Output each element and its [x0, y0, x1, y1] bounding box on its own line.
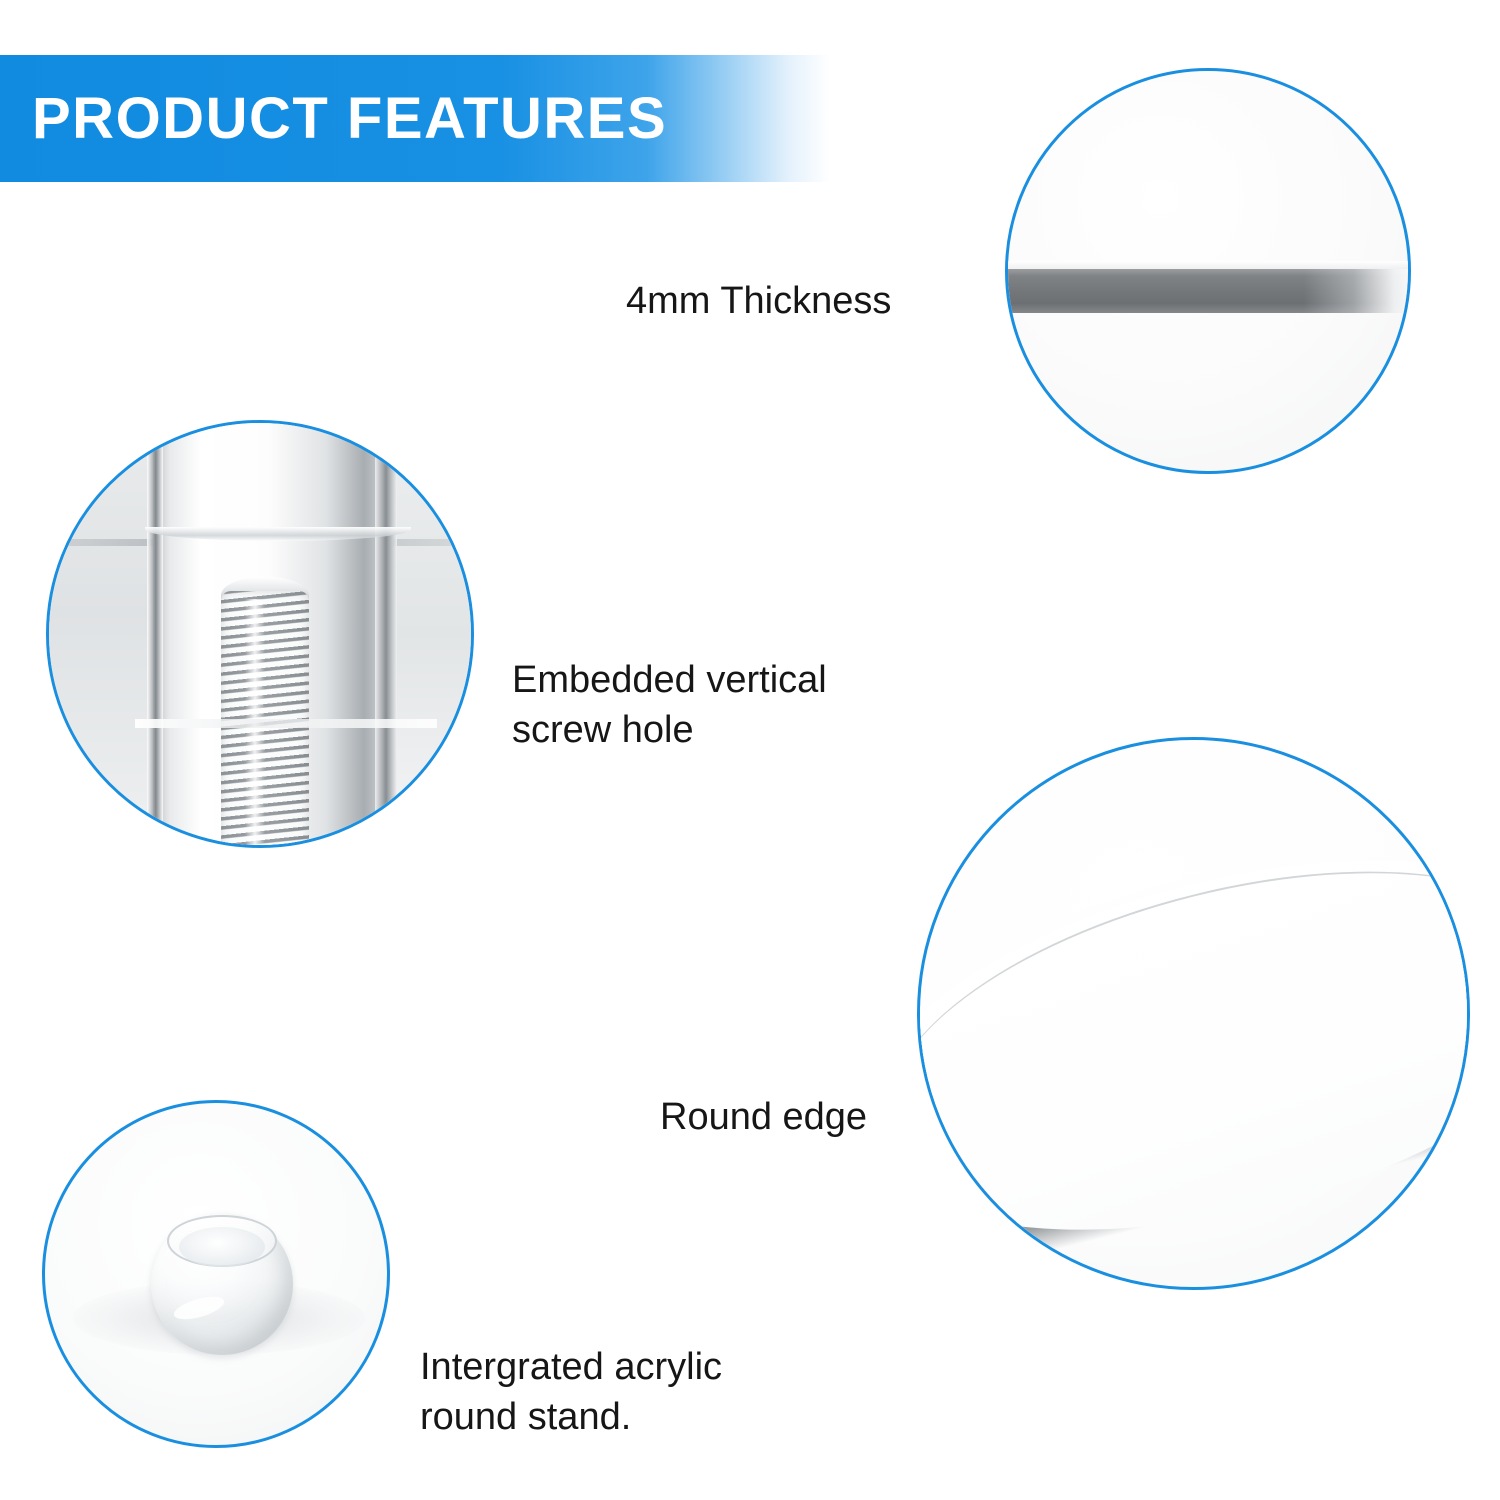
cylinder-lower-band — [135, 719, 437, 728]
feature-image-round-edge — [917, 737, 1470, 1290]
page-title: PRODUCT FEATURES — [32, 90, 667, 148]
feature-image-round-stand — [42, 1100, 390, 1448]
feature-label-thickness: 4mm Thickness — [626, 276, 891, 326]
feature-image-screw-hole — [46, 420, 474, 848]
feature-image-thickness — [1005, 68, 1411, 474]
product-features-infographic: PRODUCT FEATURES 4mm Thickness Embedded … — [0, 0, 1500, 1500]
stand-inner-recess — [179, 1227, 265, 1267]
cylinder-edge-right — [375, 423, 397, 845]
feature-label-screw-hole: Embedded vertical screw hole — [512, 655, 827, 755]
cylinder-edge-left — [147, 423, 163, 845]
feature-label-round-edge: Round edge — [660, 1092, 867, 1142]
header-banner: PRODUCT FEATURES — [0, 55, 830, 182]
acrylic-edge-band — [1005, 269, 1411, 313]
feature-label-round-stand: Intergrated acrylic round stand. — [420, 1342, 722, 1442]
